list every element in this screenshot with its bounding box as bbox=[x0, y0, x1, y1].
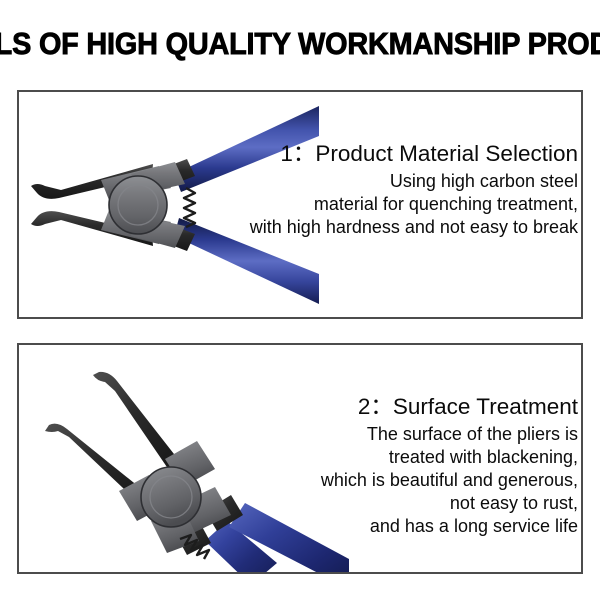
feature-body-line: material for quenching treatment, bbox=[158, 193, 578, 216]
page-title: DETAILS OF HIGH QUALITY WORKMANSHIP PROD… bbox=[0, 27, 600, 61]
feature-body-line: Using high carbon steel bbox=[158, 170, 578, 193]
feature-body-line: with high hardness and not easy to break bbox=[158, 216, 578, 239]
feature-body-line: not easy to rust, bbox=[158, 492, 578, 515]
feature-body-line: treated with blackening, bbox=[158, 446, 578, 469]
feature-text-1: 1：Product Material Selection Using high … bbox=[158, 140, 578, 239]
page-title-bar: DETAILS OF HIGH QUALITY WORKMANSHIP PROD… bbox=[0, 26, 600, 62]
feature-heading-2: 2：Surface Treatment bbox=[158, 393, 578, 421]
feature-body-line: which is beautiful and generous, bbox=[158, 469, 578, 492]
infographic-page: DETAILS OF HIGH QUALITY WORKMANSHIP PROD… bbox=[0, 0, 600, 600]
feature-panel-1: 1：Product Material Selection Using high … bbox=[17, 90, 583, 319]
feature-heading-1: 1：Product Material Selection bbox=[158, 140, 578, 168]
feature-panel-2: 2：Surface Treatment The surface of the p… bbox=[17, 343, 583, 574]
feature-body-line: The surface of the pliers is bbox=[158, 423, 578, 446]
feature-body-line: and has a long service life bbox=[158, 515, 578, 538]
feature-text-2: 2：Surface Treatment The surface of the p… bbox=[158, 393, 578, 538]
